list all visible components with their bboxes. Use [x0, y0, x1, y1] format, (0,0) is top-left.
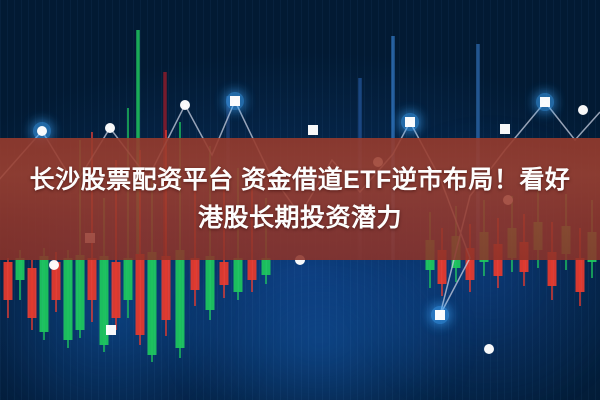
headline-line-2: 港股长期投资潜力 [198, 199, 402, 237]
headline-line-1: 长沙股票配资平台 资金借道ETF逆市布局！看好 [30, 161, 571, 199]
headline: 长沙股票配资平台 资金借道ETF逆市布局！看好 港股长期投资潜力 [0, 138, 600, 260]
banner-image: 长沙股票配资平台 资金借道ETF逆市布局！看好 港股长期投资潜力 [0, 0, 600, 400]
